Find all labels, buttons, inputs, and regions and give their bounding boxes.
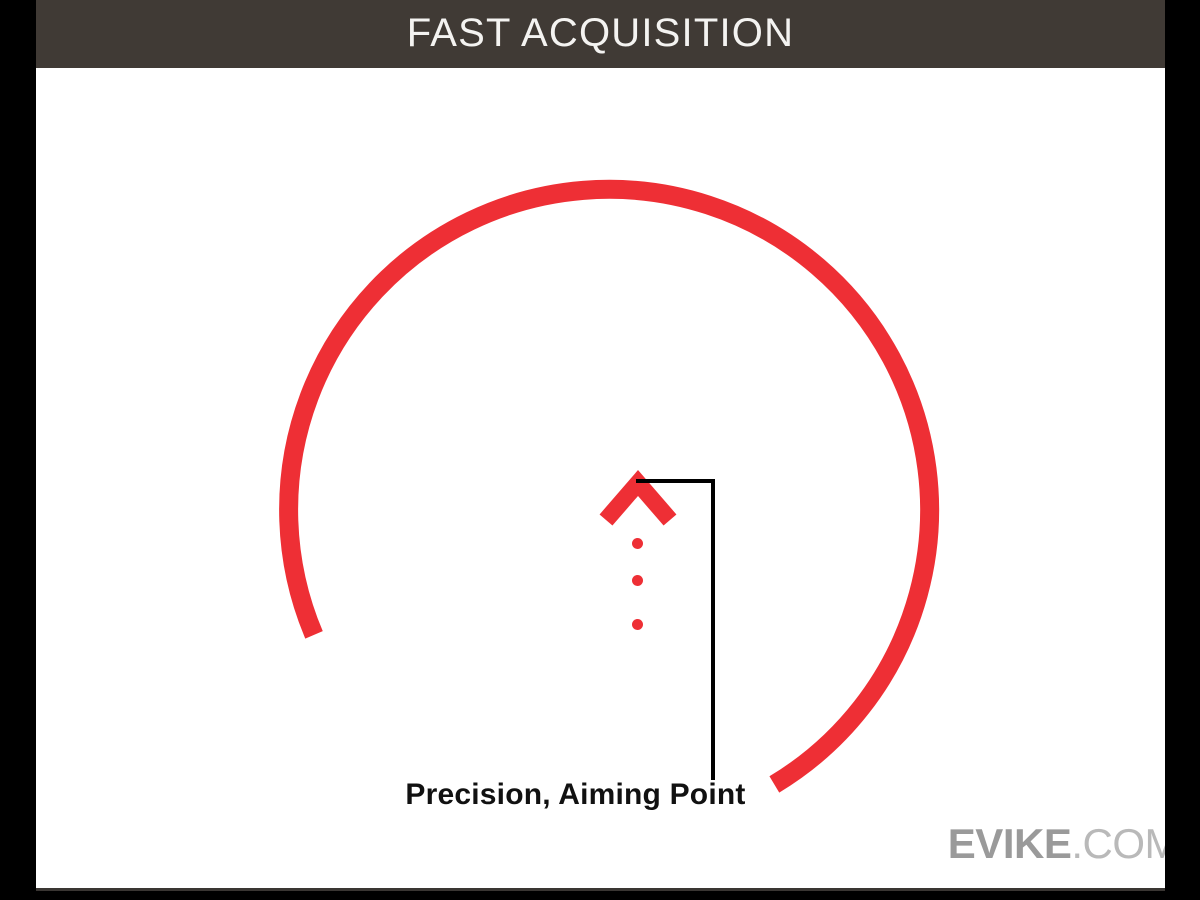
callout-leader-line <box>636 481 713 780</box>
evike-watermark: EVIKE.COM <box>948 823 1165 865</box>
slide-panel: FAST ACQUISITION Precision, Aiming Point <box>36 0 1165 891</box>
watermark-tld: .COM <box>1071 820 1165 867</box>
slide-bottom-rule <box>36 888 1165 891</box>
screenshot-root: FAST ACQUISITION Precision, Aiming Point <box>0 0 1200 900</box>
reticle-diagram: Precision, Aiming Point EVIKE.COM <box>36 68 1165 891</box>
page-title: FAST ACQUISITION <box>407 13 794 53</box>
title-bar: FAST ACQUISITION <box>36 0 1165 68</box>
callout-label: Precision, Aiming Point <box>36 778 1140 812</box>
reticle-chevron-icon <box>606 483 670 520</box>
reticle-dot <box>632 619 643 630</box>
reticle-dot <box>632 538 643 549</box>
reticle-ring-arc <box>239 106 1013 809</box>
reticle-dot <box>632 575 643 586</box>
reticle-illustration <box>36 68 1165 891</box>
watermark-brand: EVIKE <box>948 820 1072 867</box>
